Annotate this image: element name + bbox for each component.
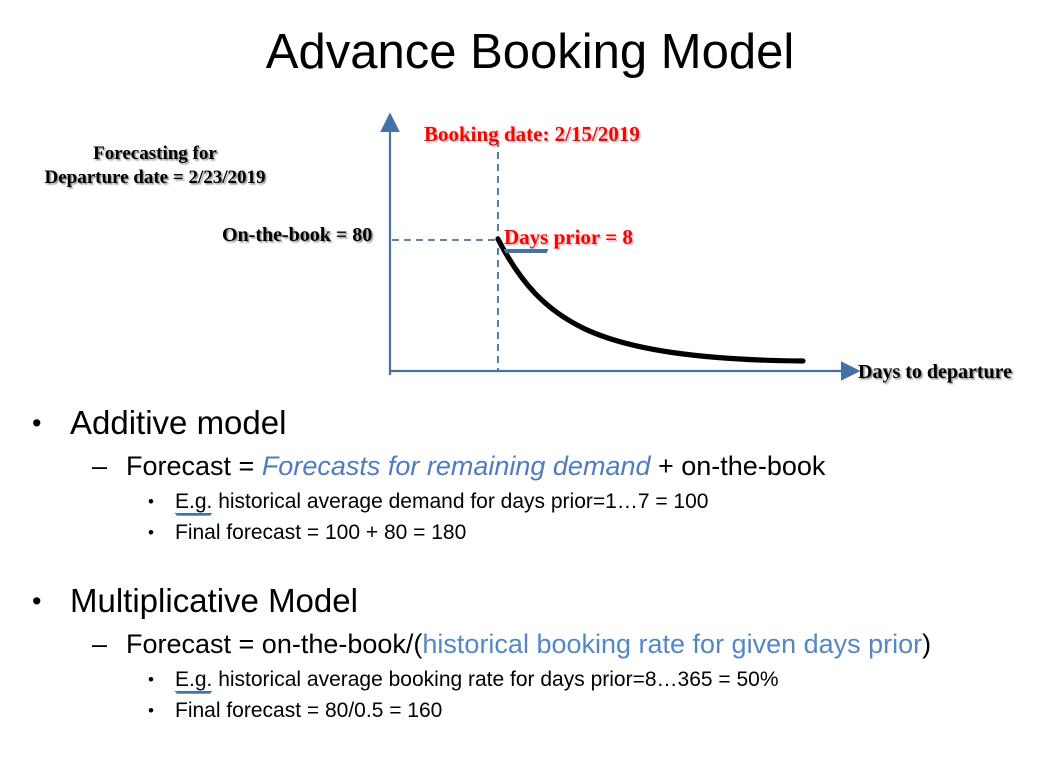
bullet-multiplicative-example-2: • Final forecast = 80/0.5 = 160 [148,695,1060,726]
bullet-additive-formula: – Forecast = Forecasts for remaining dem… [92,446,1060,486]
bullet-text: Additive model [70,400,286,446]
days-prior-label: Days prior = 8 [504,225,633,250]
bullet-additive-example-1: • E.g. historical average demand for day… [148,486,1060,517]
bullet-text: Forecast = Forecasts for remaining deman… [126,446,825,486]
days-prior-label-underlined: Days [504,225,548,251]
bullet-marker: • [148,486,175,517]
bullet-additive-example-2: • Final forecast = 100 + 80 = 180 [148,517,1060,548]
x-axis-label: Days to departure [858,360,1012,385]
bullet-marker: – [92,446,126,486]
example-label: E.g. [175,668,212,692]
bullet-marker: • [32,400,70,446]
formula-suffix: ) [922,629,931,659]
slide-body: • Additive model – Forecast = Forecasts … [0,400,1060,726]
bullet-marker: • [148,517,175,548]
formula-prefix: Forecast = [126,451,262,481]
bullet-marker: • [32,578,70,624]
bullet-marker: • [148,664,175,695]
days-prior-label-rest: prior = 8 [548,225,633,249]
bullet-text: E.g. historical average booking rate for… [175,664,779,695]
bullet-multiplicative-formula: – Forecast = on-the-book/(historical boo… [92,624,1060,664]
bullet-marker: • [148,695,175,726]
bullet-text: E.g. historical average demand for days … [175,486,708,517]
example-text: historical average demand for days prior… [212,490,708,513]
example-label: E.g. [175,490,212,514]
bullet-text: Final forecast = 80/0.5 = 160 [175,695,442,726]
bullet-multiplicative-model: • Multiplicative Model [32,578,1060,624]
section-spacer [0,548,1060,578]
bullet-additive-model: • Additive model [32,400,1060,446]
on-the-book-label: On-the-book = 80 [222,223,372,248]
bullet-marker: – [92,624,126,664]
bullet-multiplicative-example-1: • E.g. historical average booking rate f… [148,664,1060,695]
bullet-text: Final forecast = 100 + 80 = 180 [175,517,466,548]
booking-curve [498,239,803,361]
bullet-text: Forecast = on-the-book/(historical booki… [126,624,931,664]
formula-prefix: Forecast = on-the-book/( [126,629,422,659]
booking-date-label: Booking date: 2/15/2019 [424,122,640,147]
forecasting-note-line-2: Departure date = 2/23/2019 [10,166,300,190]
formula-suffix: + on-the-book [651,451,826,481]
forecasting-note-line-1: Forecasting for [10,142,300,166]
forecasting-note: Forecasting for Departure date = 2/23/20… [10,142,300,189]
bullet-text: Multiplicative Model [70,578,358,624]
page-title: Advance Booking Model [0,22,1060,82]
formula-highlight: historical booking rate for given days p… [422,629,922,659]
formula-highlight: Forecasts for remaining demand [262,451,651,481]
example-text: historical average booking rate for days… [212,668,778,691]
advance-booking-chart: Forecasting for Departure date = 2/23/20… [0,110,1060,400]
